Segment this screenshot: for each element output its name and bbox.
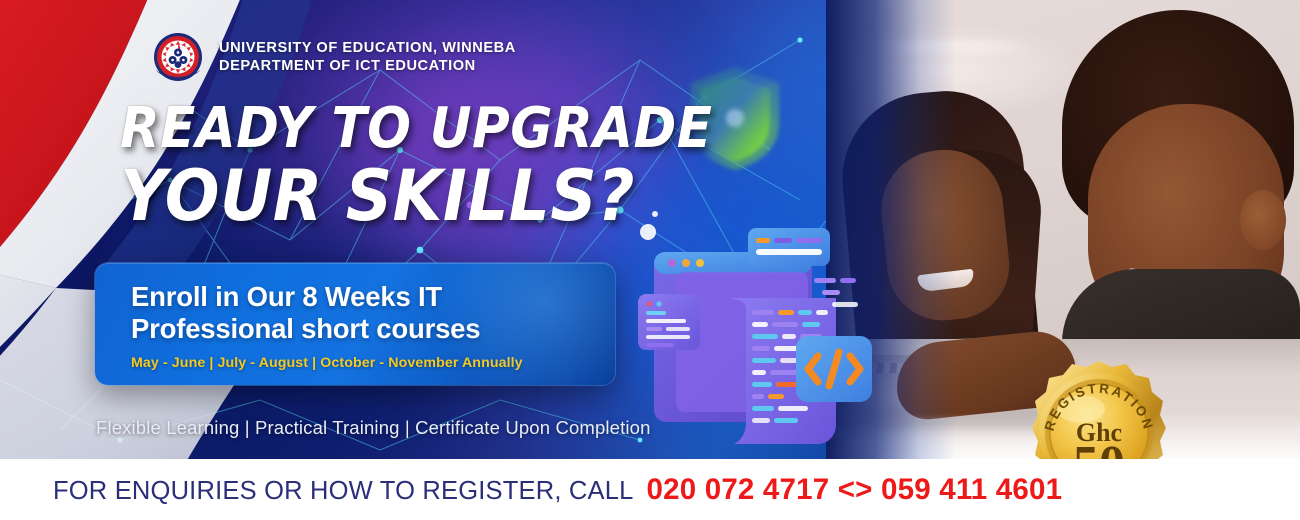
uew-crest-logo <box>150 30 206 86</box>
footer-label: FOR ENQUIRIES OR HOW TO REGISTER, CALL <box>53 477 634 506</box>
brand-line-2: DEPARTMENT OF ICT EDUCATION <box>219 58 516 76</box>
headline: READY TO UPGRADE YOUR SKILLS? <box>120 96 764 237</box>
enrollment-callout-box: Enroll in Our 8 Weeks IT Professional sh… <box>95 263 615 385</box>
brand-line-1: UNIVERSITY OF EDUCATION, WINNEBA <box>219 40 516 58</box>
cta-line-1: Enroll in Our 8 Weeks IT <box>131 281 615 313</box>
cta-line-2: Professional short courses <box>131 313 615 345</box>
headline-line-2: YOUR SKILLS? <box>120 155 712 237</box>
contact-footer: FOR ENQUIRIES OR HOW TO REGISTER, CALL 0… <box>0 459 1300 520</box>
3d-code-editor-illustration <box>636 212 886 450</box>
headline-line-1: READY TO UPGRADE <box>120 96 712 161</box>
cta-schedule: May - June | July - August | October - N… <box>131 355 615 371</box>
promotional-banner: UNIVERSITY OF EDUCATION, WINNEBA DEPARTM… <box>0 0 1300 520</box>
footer-phone-numbers[interactable]: 020 072 4717 <> 059 411 4601 <box>647 473 1063 507</box>
features-line: Flexible Learning | Practical Training |… <box>96 417 651 439</box>
brand-lockup: UNIVERSITY OF EDUCATION, WINNEBA DEPARTM… <box>150 30 516 86</box>
